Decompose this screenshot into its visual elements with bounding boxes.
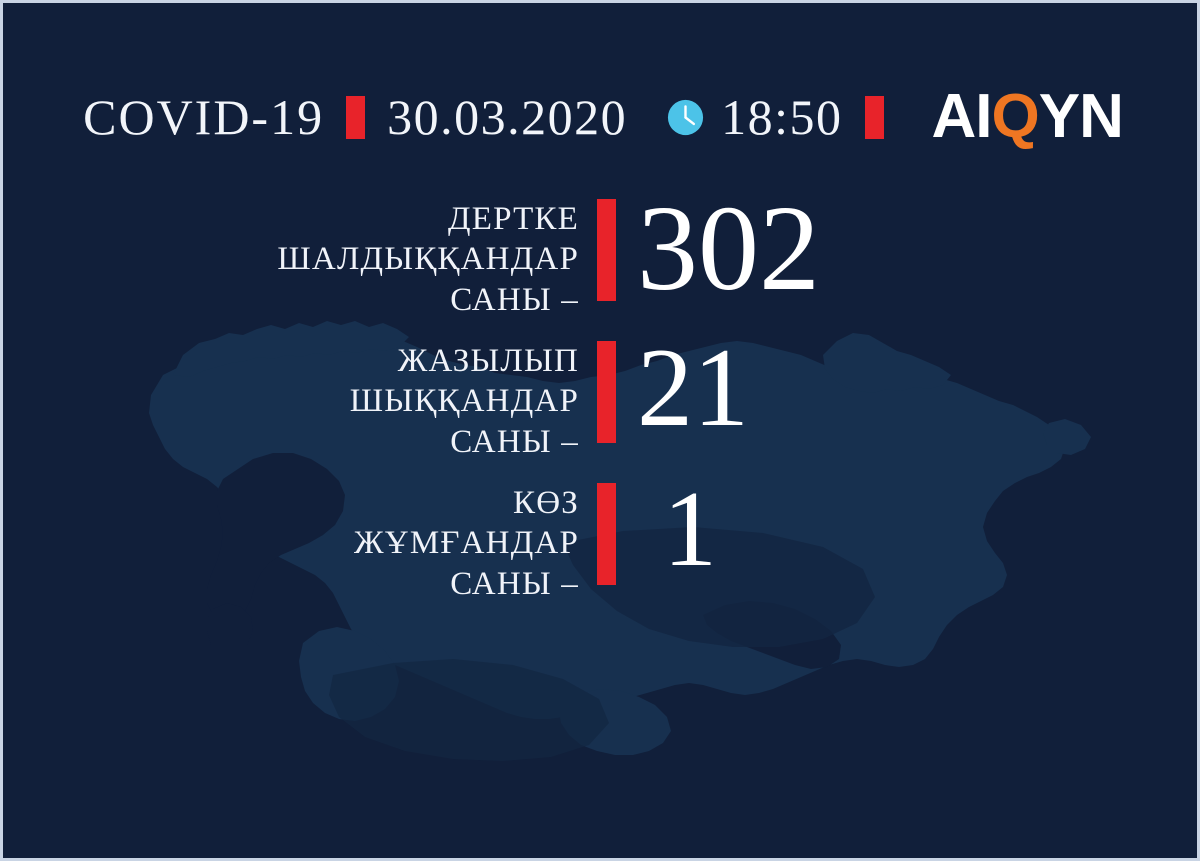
infographic-canvas: COVID-19 30.03.2020 18:50 AIQYN ДЕРТКЕ Ш… [0, 0, 1200, 861]
logo-part-q: Q [992, 86, 1039, 148]
time-label: 18:50 [721, 92, 842, 142]
date-label: 30.03.2020 [387, 92, 627, 142]
stat-value-recovered: 21 [637, 332, 749, 444]
covid-label: COVID-19 [83, 92, 324, 142]
header-bar: COVID-19 30.03.2020 18:50 AIQYN [3, 77, 1200, 157]
logo-part-ai: AI [932, 86, 992, 148]
red-square-separator-icon-2 [865, 96, 884, 139]
stat-value-deaths: 1 [663, 476, 717, 584]
clock-icon [667, 99, 704, 136]
red-accent-bar-deaths [597, 483, 616, 585]
red-accent-bar-confirmed [597, 199, 616, 301]
stat-label-recovered: ЖАЗЫЛЫП ШЫҚҚАНДАР САНЫ – [350, 341, 579, 462]
red-square-separator-icon [346, 96, 365, 139]
stat-label-confirmed-cases: ДЕРТКЕ ШАЛДЫҚҚАНДАР САНЫ – [277, 199, 579, 320]
logo-part-yn: YN [1039, 86, 1123, 148]
aiqyn-logo: AIQYN [932, 86, 1123, 148]
stat-label-deaths: КӨЗ ЖҰМҒАНДАР САНЫ – [354, 483, 579, 604]
stat-value-confirmed-cases: 302 [637, 188, 820, 310]
red-accent-bar-recovered [597, 341, 616, 443]
